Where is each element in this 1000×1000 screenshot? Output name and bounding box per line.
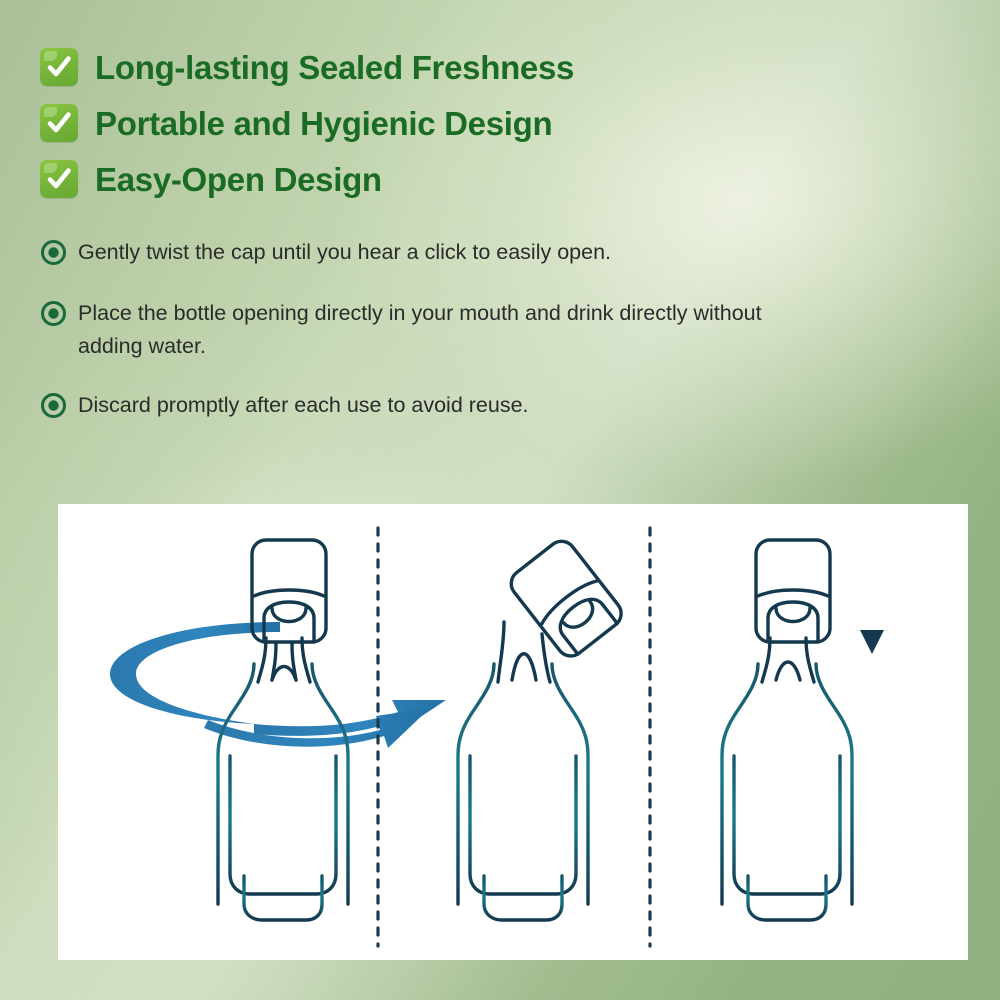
radio-dot-icon — [40, 239, 70, 271]
page-content: Long-lasting Sealed Freshness Portable a… — [0, 0, 1000, 1000]
radio-dot-icon — [40, 392, 70, 424]
instruction-item: Discard promptly after each use to avoid… — [40, 389, 840, 424]
bottle-neck — [258, 638, 310, 682]
feature-heading-list: Long-lasting Sealed Freshness Portable a… — [40, 42, 940, 210]
usage-steps-illustration — [58, 504, 968, 960]
illustration-card — [58, 504, 968, 960]
bottle-tilted-cap-icon — [506, 536, 627, 662]
instruction-text: Gently twist the cap until you hear a cl… — [78, 236, 611, 269]
feature-heading-item: Easy-Open Design — [40, 154, 940, 204]
feature-heading-label: Easy-Open Design — [95, 163, 382, 196]
feature-heading-item: Long-lasting Sealed Freshness — [40, 42, 940, 92]
instruction-text: Place the bottle opening directly in you… — [78, 297, 808, 363]
feature-heading-label: Long-lasting Sealed Freshness — [95, 51, 574, 84]
remove-cap-panel — [458, 536, 627, 946]
check-badge-icon — [40, 104, 78, 142]
check-badge-icon — [40, 160, 78, 198]
bottle-cap — [252, 540, 326, 642]
bottle-neck — [498, 622, 550, 682]
bottle-down-arrow-icon — [860, 586, 884, 654]
instruction-list: Gently twist the cap until you hear a cl… — [40, 236, 840, 450]
instruction-item: Place the bottle opening directly in you… — [40, 297, 840, 363]
bottle-neck — [762, 638, 814, 682]
feature-heading-item: Portable and Hygienic Design — [40, 98, 940, 148]
twist-cap-panel — [110, 540, 446, 946]
check-badge-icon — [40, 48, 78, 86]
bottle-outline — [218, 664, 348, 946]
instruction-text: Discard promptly after each use to avoid… — [78, 389, 529, 422]
press-cap-panel — [722, 540, 884, 946]
bottle-outline — [458, 664, 588, 946]
instruction-item: Gently twist the cap until you hear a cl… — [40, 236, 840, 271]
bottle-cap — [756, 540, 830, 642]
feature-heading-label: Portable and Hygienic Design — [95, 107, 552, 140]
radio-dot-icon — [40, 300, 70, 332]
bottle-outline — [722, 664, 852, 946]
